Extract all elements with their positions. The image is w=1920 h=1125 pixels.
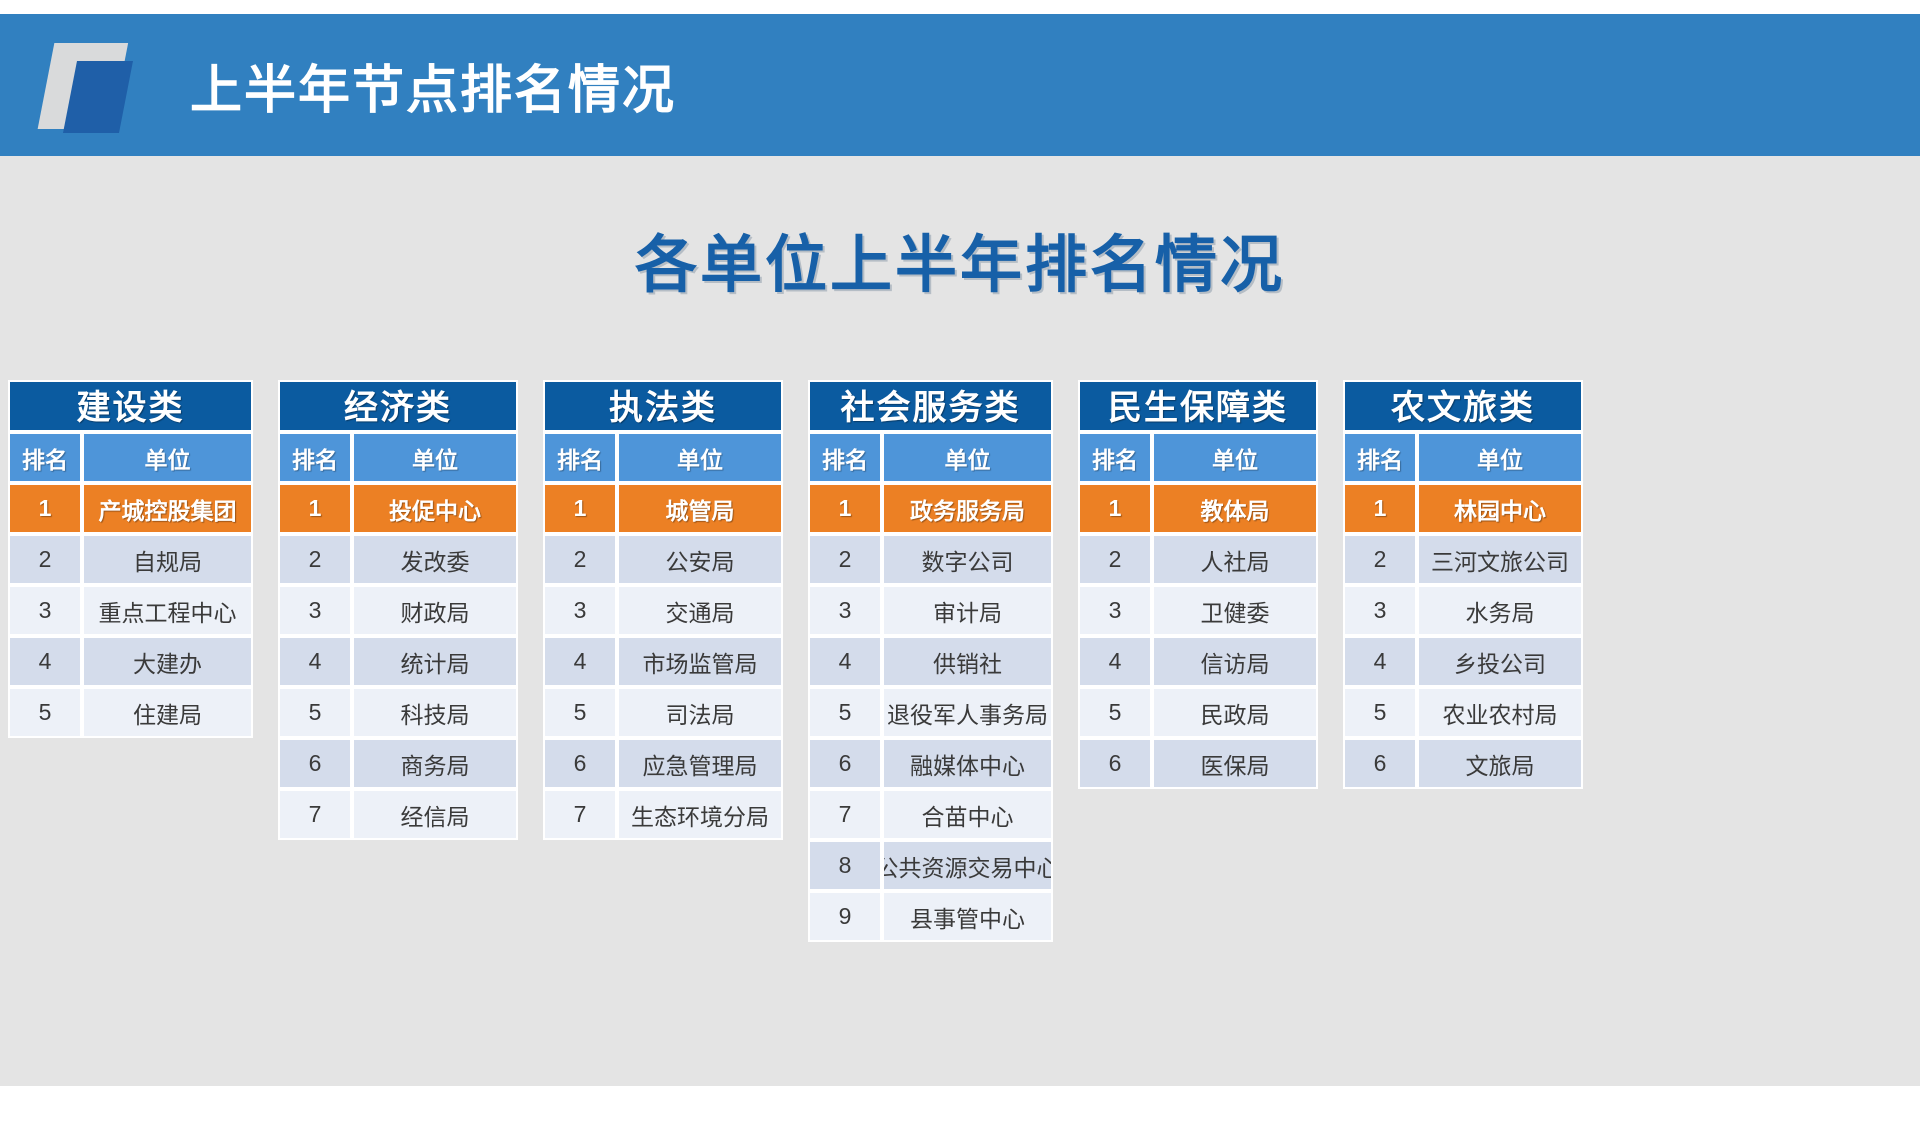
table-row[interactable]: 5 农业农村局 [1343, 687, 1583, 738]
cell-unit: 重点工程中心 [82, 585, 253, 636]
table-row[interactable]: 2 自规局 [8, 534, 253, 585]
cell-rank: 5 [1078, 687, 1152, 738]
column-header-unit: 单位 [1152, 432, 1318, 483]
cell-unit: 县事管中心 [882, 891, 1053, 942]
cell-unit: 农业农村局 [1417, 687, 1583, 738]
cell-unit: 三河文旅公司 [1417, 534, 1583, 585]
cell-rank: 7 [278, 789, 352, 840]
cell-unit: 审计局 [882, 585, 1053, 636]
cell-rank: 2 [8, 534, 82, 585]
table-row[interactable]: 3 交通局 [543, 585, 783, 636]
table-row[interactable]: 4 供销社 [808, 636, 1053, 687]
header-bar: 上半年节点排名情况 [0, 14, 1920, 156]
cell-unit: 文旅局 [1417, 738, 1583, 789]
cell-rank: 5 [1343, 687, 1417, 738]
table-header-row: 排名 单位 [1078, 432, 1318, 483]
ranking-tables-container: 建设类 排名 单位 1 产城控股集团 2 自规局 3 重点工程中心 [8, 380, 1912, 942]
cell-unit: 大建办 [82, 636, 253, 687]
table-row[interactable]: 4 市场监管局 [543, 636, 783, 687]
cell-unit: 公安局 [617, 534, 783, 585]
page-title: 各单位上半年排名情况 [0, 214, 1920, 304]
table-row[interactable]: 4 信访局 [1078, 636, 1318, 687]
cell-unit: 数字公司 [882, 534, 1053, 585]
header-title: 上半年节点排名情况 [190, 48, 676, 123]
ranking-table-3: 社会服务类 排名 单位 1 政务服务局 2 数字公司 3 审计局 [808, 380, 1053, 942]
cell-unit: 科技局 [352, 687, 518, 738]
cell-rank: 4 [808, 636, 882, 687]
cell-rank: 5 [8, 687, 82, 738]
bottom-margin [0, 1086, 1920, 1125]
table-row[interactable]: 6 融媒体中心 [808, 738, 1053, 789]
cell-rank: 4 [543, 636, 617, 687]
column-header-rank: 排名 [1343, 432, 1417, 483]
cell-rank: 7 [543, 789, 617, 840]
cell-unit: 自规局 [82, 534, 253, 585]
table-row[interactable]: 1 产城控股集团 [8, 483, 253, 534]
cell-unit: 公共资源交易中心 [882, 840, 1053, 891]
cell-unit: 生态环境分局 [617, 789, 783, 840]
table-row[interactable]: 4 统计局 [278, 636, 518, 687]
cell-unit: 市场监管局 [617, 636, 783, 687]
cell-rank: 4 [1078, 636, 1152, 687]
cell-rank: 3 [1343, 585, 1417, 636]
table-row[interactable]: 1 林园中心 [1343, 483, 1583, 534]
table-row[interactable]: 2 数字公司 [808, 534, 1053, 585]
slide-body: 各单位上半年排名情况 建设类 排名 单位 1 产城控股集团 2 自规局 3 [0, 156, 1920, 1106]
cell-unit: 合苗中心 [882, 789, 1053, 840]
ranking-table-4: 民生保障类 排名 单位 1 教体局 2 人社局 3 卫健委 [1078, 380, 1318, 789]
cell-unit: 应急管理局 [617, 738, 783, 789]
column-header-unit: 单位 [352, 432, 518, 483]
cell-unit: 财政局 [352, 585, 518, 636]
company-logo-icon [40, 37, 160, 133]
table-row[interactable]: 2 三河文旅公司 [1343, 534, 1583, 585]
cell-rank: 5 [278, 687, 352, 738]
cell-rank: 2 [278, 534, 352, 585]
table-header-row: 排名 单位 [278, 432, 518, 483]
cell-rank: 5 [543, 687, 617, 738]
cell-rank: 6 [543, 738, 617, 789]
cell-rank: 4 [278, 636, 352, 687]
cell-rank: 1 [1078, 483, 1152, 534]
cell-unit: 经信局 [352, 789, 518, 840]
ranking-table-5: 农文旅类 排名 单位 1 林园中心 2 三河文旅公司 3 水务局 [1343, 380, 1583, 789]
cell-rank: 1 [543, 483, 617, 534]
table-caption: 民生保障类 [1078, 380, 1318, 432]
cell-unit: 退役军人事务局 [882, 687, 1053, 738]
table-header-row: 排名 单位 [543, 432, 783, 483]
cell-unit: 住建局 [82, 687, 253, 738]
cell-rank: 5 [808, 687, 882, 738]
cell-rank: 3 [808, 585, 882, 636]
table-row[interactable]: 1 政务服务局 [808, 483, 1053, 534]
table-row[interactable]: 5 科技局 [278, 687, 518, 738]
table-row[interactable]: 5 民政局 [1078, 687, 1318, 738]
cell-rank: 7 [808, 789, 882, 840]
column-header-rank: 排名 [278, 432, 352, 483]
cell-rank: 1 [808, 483, 882, 534]
slide-page: 上半年节点排名情况 各单位上半年排名情况 建设类 排名 单位 1 产城控股集团 … [0, 0, 1920, 1125]
table-row[interactable]: 7 经信局 [278, 789, 518, 840]
table-row[interactable]: 2 发改委 [278, 534, 518, 585]
table-row[interactable]: 2 公安局 [543, 534, 783, 585]
table-row[interactable]: 4 乡投公司 [1343, 636, 1583, 687]
cell-rank: 8 [808, 840, 882, 891]
cell-rank: 6 [278, 738, 352, 789]
table-header-row: 排名 单位 [1343, 432, 1583, 483]
table-row[interactable]: 3 水务局 [1343, 585, 1583, 636]
table-header-row: 排名 单位 [8, 432, 253, 483]
cell-unit: 投促中心 [352, 483, 518, 534]
ranking-table-1: 经济类 排名 单位 1 投促中心 2 发改委 3 财政局 [278, 380, 518, 840]
column-header-rank: 排名 [1078, 432, 1152, 483]
cell-rank: 6 [1343, 738, 1417, 789]
table-row[interactable]: 5 退役军人事务局 [808, 687, 1053, 738]
cell-unit: 民政局 [1152, 687, 1318, 738]
table-row[interactable]: 1 教体局 [1078, 483, 1318, 534]
cell-unit: 交通局 [617, 585, 783, 636]
cell-unit: 卫健委 [1152, 585, 1318, 636]
column-header-unit: 单位 [1417, 432, 1583, 483]
cell-unit: 司法局 [617, 687, 783, 738]
table-row[interactable]: 3 卫健委 [1078, 585, 1318, 636]
cell-unit: 发改委 [352, 534, 518, 585]
cell-rank: 3 [543, 585, 617, 636]
column-header-unit: 单位 [82, 432, 253, 483]
cell-unit: 水务局 [1417, 585, 1583, 636]
table-row[interactable]: 4 大建办 [8, 636, 253, 687]
table-row[interactable]: 3 财政局 [278, 585, 518, 636]
cell-unit: 供销社 [882, 636, 1053, 687]
column-header-rank: 排名 [543, 432, 617, 483]
cell-rank: 3 [278, 585, 352, 636]
table-row[interactable]: 3 审计局 [808, 585, 1053, 636]
table-row[interactable]: 2 人社局 [1078, 534, 1318, 585]
cell-rank: 1 [8, 483, 82, 534]
table-row[interactable]: 3 重点工程中心 [8, 585, 253, 636]
cell-rank: 6 [808, 738, 882, 789]
table-caption: 经济类 [278, 380, 518, 432]
column-header-unit: 单位 [617, 432, 783, 483]
cell-unit: 融媒体中心 [882, 738, 1053, 789]
cell-unit: 政务服务局 [882, 483, 1053, 534]
cell-rank: 2 [1343, 534, 1417, 585]
cell-rank: 4 [1343, 636, 1417, 687]
cell-rank: 9 [808, 891, 882, 942]
ranking-table-0: 建设类 排名 单位 1 产城控股集团 2 自规局 3 重点工程中心 [8, 380, 253, 738]
cell-unit: 信访局 [1152, 636, 1318, 687]
cell-unit: 乡投公司 [1417, 636, 1583, 687]
table-row[interactable]: 7 合苗中心 [808, 789, 1053, 840]
cell-rank: 1 [1343, 483, 1417, 534]
cell-unit: 商务局 [352, 738, 518, 789]
table-row[interactable]: 9 县事管中心 [808, 891, 1053, 942]
table-row[interactable]: 1 投促中心 [278, 483, 518, 534]
table-caption: 执法类 [543, 380, 783, 432]
table-row[interactable]: 7 生态环境分局 [543, 789, 783, 840]
cell-rank: 4 [8, 636, 82, 687]
table-caption: 农文旅类 [1343, 380, 1583, 432]
table-caption: 社会服务类 [808, 380, 1053, 432]
column-header-unit: 单位 [882, 432, 1053, 483]
table-row[interactable]: 6 医保局 [1078, 738, 1318, 789]
cell-rank: 2 [543, 534, 617, 585]
cell-unit: 林园中心 [1417, 483, 1583, 534]
cell-unit: 产城控股集团 [82, 483, 253, 534]
cell-rank: 6 [1078, 738, 1152, 789]
column-header-rank: 排名 [8, 432, 82, 483]
table-row[interactable]: 1 城管局 [543, 483, 783, 534]
cell-rank: 2 [1078, 534, 1152, 585]
cell-unit: 人社局 [1152, 534, 1318, 585]
table-row[interactable]: 5 住建局 [8, 687, 253, 738]
table-row[interactable]: 6 商务局 [278, 738, 518, 789]
cell-unit: 教体局 [1152, 483, 1318, 534]
table-row[interactable]: 8 公共资源交易中心 [808, 840, 1053, 891]
column-header-rank: 排名 [808, 432, 882, 483]
table-caption: 建设类 [8, 380, 253, 432]
cell-unit: 城管局 [617, 483, 783, 534]
cell-rank: 1 [278, 483, 352, 534]
cell-rank: 3 [1078, 585, 1152, 636]
table-header-row: 排名 单位 [808, 432, 1053, 483]
table-row[interactable]: 5 司法局 [543, 687, 783, 738]
cell-rank: 2 [808, 534, 882, 585]
table-row[interactable]: 6 文旅局 [1343, 738, 1583, 789]
table-row[interactable]: 6 应急管理局 [543, 738, 783, 789]
ranking-table-2: 执法类 排名 单位 1 城管局 2 公安局 3 交通局 4 [543, 380, 783, 840]
cell-unit: 统计局 [352, 636, 518, 687]
cell-rank: 3 [8, 585, 82, 636]
cell-unit: 医保局 [1152, 738, 1318, 789]
